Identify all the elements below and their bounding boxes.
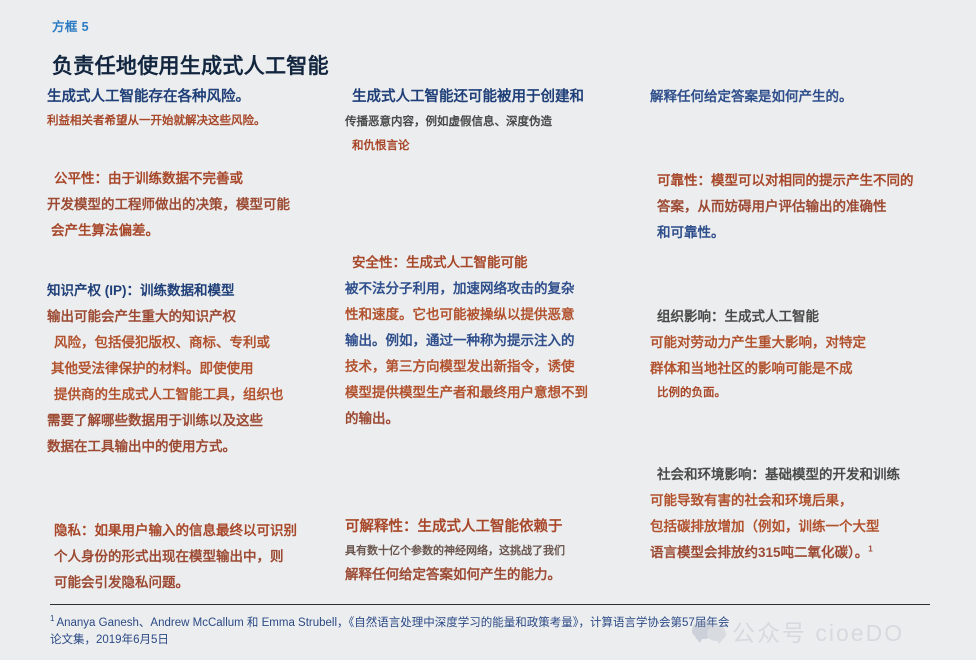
privacy-line-1: 隐私：如果用户输入的信息最终以可识别 — [47, 518, 347, 544]
safety-line-2: 被不法分子利用，加速网络攻击的复杂 — [345, 276, 645, 302]
malicious-line-1: 生成式人工智能还可能被用于创建和 — [345, 84, 645, 110]
societal-line-4: 语言模型会排放约315吨二氧化碳）。1 — [650, 540, 965, 566]
block-explain-continuation: 解释任何给定答案是如何产生的。 — [650, 84, 965, 110]
reliability-line-1: 可靠性：模型可以对相同的提示产生不同的 — [650, 168, 965, 194]
block-privacy: 隐私：如果用户输入的信息最终以可识别 个人身份的形式出现在模型输出中，则 可能会… — [47, 518, 347, 596]
societal-line-1: 社会和环境影响：基础模型的开发和训练 — [650, 462, 965, 488]
spacer — [650, 144, 965, 168]
block-intro: 生成式人工智能存在各种风险。 利益相关者希望从一开始就解决这些风险。 — [47, 84, 347, 132]
block-reliability: 可靠性：模型可以对相同的提示产生不同的 答案，从而妨碍用户评估输出的准确性 和可… — [650, 168, 965, 246]
explainability-line-3: 解释任何给定答案如何产生的能力。 — [345, 562, 645, 588]
fairness-line-3: 会产生算法偏差。 — [47, 218, 347, 244]
spacer — [47, 132, 347, 166]
document-page: 方框 5 负责任地使用生成式人工智能 生成式人工智能存在各种风险。 利益相关者希… — [0, 0, 976, 660]
content-column-1: 生成式人工智能存在各种风险。 利益相关者希望从一开始就解决这些风险。 公平性：由… — [47, 84, 347, 596]
block-explainability: 可解释性：生成式人工智能依赖于 具有数十亿个参数的神经网络，这挑战了我们 解释任… — [345, 514, 645, 588]
safety-line-7: 的输出。 — [345, 406, 645, 432]
organizational-line-2: 可能对劳动力产生重大影响，对特定 — [650, 330, 965, 356]
spacer — [47, 244, 347, 278]
spacer — [650, 110, 965, 144]
spacer — [650, 404, 965, 438]
intro-line-2: 利益相关者希望从一开始就解决这些风险。 — [47, 110, 347, 132]
organizational-line-1: 组织影响：生成式人工智能 — [650, 304, 965, 330]
explain-cont-line-1: 解释任何给定答案是如何产生的。 — [650, 84, 965, 110]
fairness-line-1: 公平性：由于训练数据不完善或 — [47, 166, 347, 192]
ip-line-3: 风险，包括侵犯版权、商标、专利或 — [47, 330, 347, 356]
ip-line-4: 其他受法律保护的材料。即使使用 — [47, 356, 347, 382]
spacer — [47, 494, 347, 518]
societal-footnote-marker: 1 — [868, 545, 872, 554]
spacer — [650, 246, 965, 280]
spacer — [345, 500, 645, 514]
footnote-line-2: 论文集，2019年6月5日 — [50, 634, 169, 646]
organizational-line-4: 比例的负面。 — [650, 382, 965, 404]
footnote: 1Ananya Ganesh、Andrew McCallum 和 Emma St… — [50, 604, 930, 649]
spacer — [345, 192, 645, 226]
societal-line-3: 包括碳排放增加（例如，训练一个大型 — [650, 514, 965, 540]
spacer — [345, 432, 645, 466]
page-title: 负责任地使用生成式人工智能 — [52, 50, 329, 80]
block-organizational-impact: 组织影响：生成式人工智能 可能对劳动力产生重大影响，对特定 群体和当地社区的影响… — [650, 304, 965, 404]
safety-line-4: 输出。例如，通过一种称为提示注入的 — [345, 328, 645, 354]
spacer — [650, 280, 965, 304]
societal-line-2: 可能导致有害的社会和环境后果， — [650, 488, 965, 514]
ip-line-6: 需要了解哪些数据用于训练以及这些 — [47, 408, 347, 434]
spacer — [345, 158, 645, 192]
spacer — [345, 466, 645, 500]
malicious-line-3: 和仇恨言论 — [345, 134, 645, 158]
spacer — [47, 460, 347, 494]
reliability-line-3: 和可靠性。 — [650, 220, 965, 246]
footnote-line-1: Ananya Ganesh、Andrew McCallum 和 Emma Str… — [56, 617, 729, 629]
organizational-line-3: 群体和当地社区的影响可能是不成 — [650, 356, 965, 382]
ip-line-2: 输出可能会产生重大的知识产权 — [47, 304, 347, 330]
box-kicker: 方框 5 — [52, 16, 89, 35]
content-column-2: 生成式人工智能还可能被用于创建和 传播恶意内容，例如虚假信息、深度伪造 和仇恨言… — [345, 84, 645, 588]
content-column-3: 解释任何给定答案是如何产生的。 可靠性：模型可以对相同的提示产生不同的 答案，从… — [650, 84, 965, 566]
safety-line-3: 性和速度。它也可能被操纵以提供恶意 — [345, 302, 645, 328]
block-societal-environmental: 社会和环境影响：基础模型的开发和训练 可能导致有害的社会和环境后果， 包括碳排放… — [650, 462, 965, 566]
block-safety: 安全性：生成式人工智能可能 被不法分子利用，加速网络攻击的复杂 性和速度。它也可… — [345, 250, 645, 432]
explainability-line-1: 可解释性：生成式人工智能依赖于 — [345, 514, 645, 540]
intro-line-1: 生成式人工智能存在各种风险。 — [47, 84, 347, 110]
ip-line-7: 数据在工具输出中的使用方式。 — [47, 434, 347, 460]
footnote-text: 1Ananya Ganesh、Andrew McCallum 和 Emma St… — [50, 610, 930, 649]
footnote-divider — [50, 604, 930, 605]
privacy-line-2: 个人身份的形式出现在模型输出中，则 — [47, 544, 347, 570]
reliability-line-2: 答案，从而妨碍用户评估输出的准确性 — [650, 194, 965, 220]
block-malicious-content: 生成式人工智能还可能被用于创建和 传播恶意内容，例如虚假信息、深度伪造 和仇恨言… — [345, 84, 645, 158]
spacer — [650, 438, 965, 462]
spacer — [345, 226, 645, 250]
footnote-marker: 1 — [50, 614, 54, 623]
ip-line-5: 提供商的生成式人工智能工具，组织也 — [47, 382, 347, 408]
block-fairness: 公平性：由于训练数据不完善或 开发模型的工程师做出的决策，模型可能 会产生算法偏… — [47, 166, 347, 244]
societal-line-4-text: 语言模型会排放约315吨二氧化碳）。 — [650, 545, 868, 560]
explainability-line-2: 具有数十亿个参数的神经网络，这挑战了我们 — [345, 540, 645, 562]
fairness-line-2: 开发模型的工程师做出的决策，模型可能 — [47, 192, 347, 218]
malicious-line-2: 传播恶意内容，例如虚假信息、深度伪造 — [345, 110, 645, 134]
safety-line-5: 技术，第三方向模型发出新指令，诱使 — [345, 354, 645, 380]
privacy-line-3: 可能会引发隐私问题。 — [47, 570, 347, 596]
ip-line-1: 知识产权 (IP)：训练数据和模型 — [47, 278, 347, 304]
safety-line-1: 安全性：生成式人工智能可能 — [345, 250, 645, 276]
block-intellectual-property: 知识产权 (IP)：训练数据和模型 输出可能会产生重大的知识产权 风险，包括侵犯… — [47, 278, 347, 460]
safety-line-6: 模型提供模型生产者和最终用户意想不到 — [345, 380, 645, 406]
